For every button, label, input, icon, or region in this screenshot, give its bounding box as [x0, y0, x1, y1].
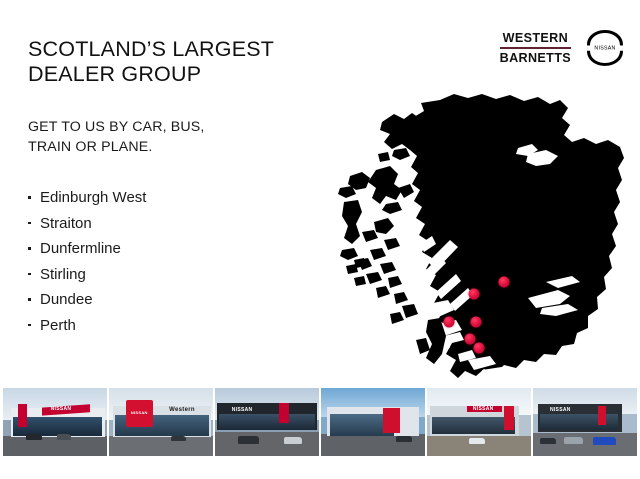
- page-subtitle-line-1: GET TO US BY CAR, BUS,: [28, 117, 328, 137]
- photo-banner-text: NISSAN: [131, 411, 148, 415]
- bullet-icon: [28, 298, 31, 301]
- photo-car: [57, 434, 72, 439]
- photo-ground: [533, 433, 637, 456]
- page-subtitle-line-2: TRAIN OR PLANE.: [28, 137, 328, 157]
- photo-car: [564, 437, 583, 444]
- photo-ground: [3, 436, 107, 456]
- photo-sign-text: Western: [169, 407, 195, 413]
- dealership-photo[interactable]: NISSAN: [215, 388, 319, 456]
- bullet-icon: [28, 196, 31, 199]
- map-pin-stirling[interactable]: [443, 317, 454, 328]
- list-item: Straiton: [28, 211, 328, 237]
- location-label: Dunfermline: [40, 240, 121, 257]
- photo-sign-text: NISSAN: [473, 407, 494, 412]
- photo-pylon: [598, 406, 606, 425]
- dealership-photo[interactable]: NISSAN: [533, 388, 637, 456]
- nissan-logo-icon: NISSAN: [582, 25, 628, 71]
- page-title-line-2: DEALER GROUP: [28, 62, 328, 87]
- photo-nissan-banner: [383, 408, 400, 432]
- scotland-map-silhouette: [332, 92, 628, 384]
- photo-car: [284, 437, 303, 444]
- location-label: Stirling: [40, 266, 86, 283]
- photo-ground: [215, 432, 319, 456]
- logo-divider-rule: [500, 47, 571, 49]
- photo-pylon: [18, 404, 27, 427]
- list-item: Dundee: [28, 287, 328, 313]
- photo-car: [26, 434, 43, 440]
- bullet-icon: [28, 247, 31, 250]
- photo-car: [593, 437, 616, 445]
- slide-canvas: SCOTLAND’S LARGEST DEALER GROUP GET TO U…: [0, 0, 640, 479]
- photo-glass-facade: [219, 414, 314, 430]
- logo-lockup: WESTERN BARNETTS NISSAN: [500, 25, 628, 71]
- page-subtitle: GET TO US BY CAR, BUS, TRAIN OR PLANE.: [28, 117, 328, 157]
- photo-ground: [109, 436, 213, 456]
- dealership-photo-strip: NISSAN NISSAN Western NISSAN: [3, 388, 637, 456]
- map-pin-dundee[interactable]: [498, 277, 509, 288]
- list-item: Stirling: [28, 262, 328, 288]
- western-barnetts-logo: WESTERN BARNETTS: [500, 32, 571, 65]
- photo-sign-text: NISSAN: [232, 408, 253, 413]
- map-pin-perth[interactable]: [469, 289, 480, 300]
- dealership-photo[interactable]: [321, 388, 425, 456]
- bullet-icon: [28, 222, 31, 225]
- photo-pylon: [504, 406, 514, 430]
- photo-glass-facade: [540, 414, 619, 430]
- list-item: Edinburgh West: [28, 185, 328, 211]
- list-item: Perth: [28, 313, 328, 339]
- photo-sign-text: NISSAN: [51, 407, 72, 412]
- dealership-photo[interactable]: NISSAN: [427, 388, 531, 456]
- map-pin-dunfermline[interactable]: [471, 316, 482, 327]
- location-label: Dundee: [40, 291, 93, 308]
- photo-car: [171, 436, 186, 441]
- list-item: Dunfermline: [28, 236, 328, 262]
- dealership-photo[interactable]: NISSAN Western: [109, 388, 213, 456]
- photo-car: [238, 436, 259, 443]
- photo-sign-text: NISSAN: [550, 408, 571, 413]
- location-label: Perth: [40, 317, 76, 334]
- map-pin-straiton[interactable]: [473, 342, 484, 353]
- svg-text:NISSAN: NISSAN: [594, 46, 615, 52]
- photo-car: [396, 436, 413, 442]
- location-label: Straiton: [40, 215, 92, 232]
- location-label: Edinburgh West: [40, 189, 146, 206]
- dealership-photo[interactable]: NISSAN: [3, 388, 107, 456]
- map-pin-edinburgh-west[interactable]: [464, 333, 475, 344]
- photo-nissan-sign: [279, 403, 288, 423]
- page-title: SCOTLAND’S LARGEST DEALER GROUP: [28, 37, 328, 87]
- logo-line-barnetts: BARNETTS: [500, 52, 571, 65]
- bullet-icon: [28, 273, 31, 276]
- photo-glass-facade: [432, 417, 515, 435]
- location-list: Edinburgh West Straiton Dunfermline Stir…: [28, 185, 328, 338]
- photo-car: [540, 438, 557, 444]
- logo-line-western: WESTERN: [500, 32, 571, 45]
- scotland-map: [332, 92, 628, 384]
- photo-car: [469, 438, 486, 444]
- bullet-icon: [28, 324, 31, 327]
- page-title-line-1: SCOTLAND’S LARGEST: [28, 37, 328, 62]
